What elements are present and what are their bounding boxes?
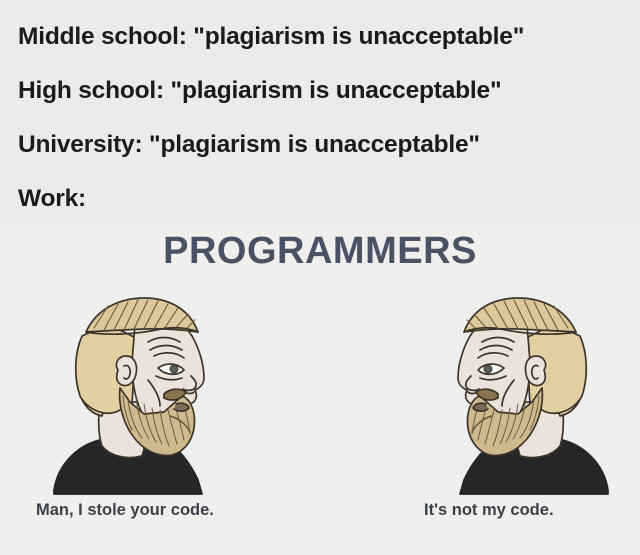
- eye-iris: [170, 365, 178, 373]
- setup-line-university: University: "plagiarism is unacceptable": [18, 133, 480, 158]
- eye-iris: [484, 365, 492, 373]
- meme-panel: PROGRAMMERS: [0, 224, 640, 555]
- meme-title: PROGRAMMERS: [0, 232, 640, 270]
- chad-figure-left: [52, 284, 252, 499]
- chad-face-icon: [410, 284, 610, 499]
- setup-line-work: Work:: [18, 187, 86, 212]
- mouth-shape: [473, 403, 488, 411]
- mouth-shape: [174, 403, 189, 411]
- meme-image: Middle school: "plagiarism is unacceptab…: [0, 0, 640, 555]
- setup-line-middle-school: Middle school: "plagiarism is unacceptab…: [18, 25, 524, 50]
- chad-face-icon: [52, 284, 252, 499]
- ear-shape: [525, 356, 545, 386]
- chad-figure-right: [410, 284, 610, 499]
- setup-text-block: Middle school: "plagiarism is unacceptab…: [0, 0, 640, 224]
- meme-caption-right: It's not my code.: [424, 502, 554, 519]
- meme-caption-left: Man, I stole your code.: [36, 502, 214, 519]
- setup-line-high-school: High school: "plagiarism is unacceptable…: [18, 79, 501, 104]
- ear-shape: [116, 356, 136, 386]
